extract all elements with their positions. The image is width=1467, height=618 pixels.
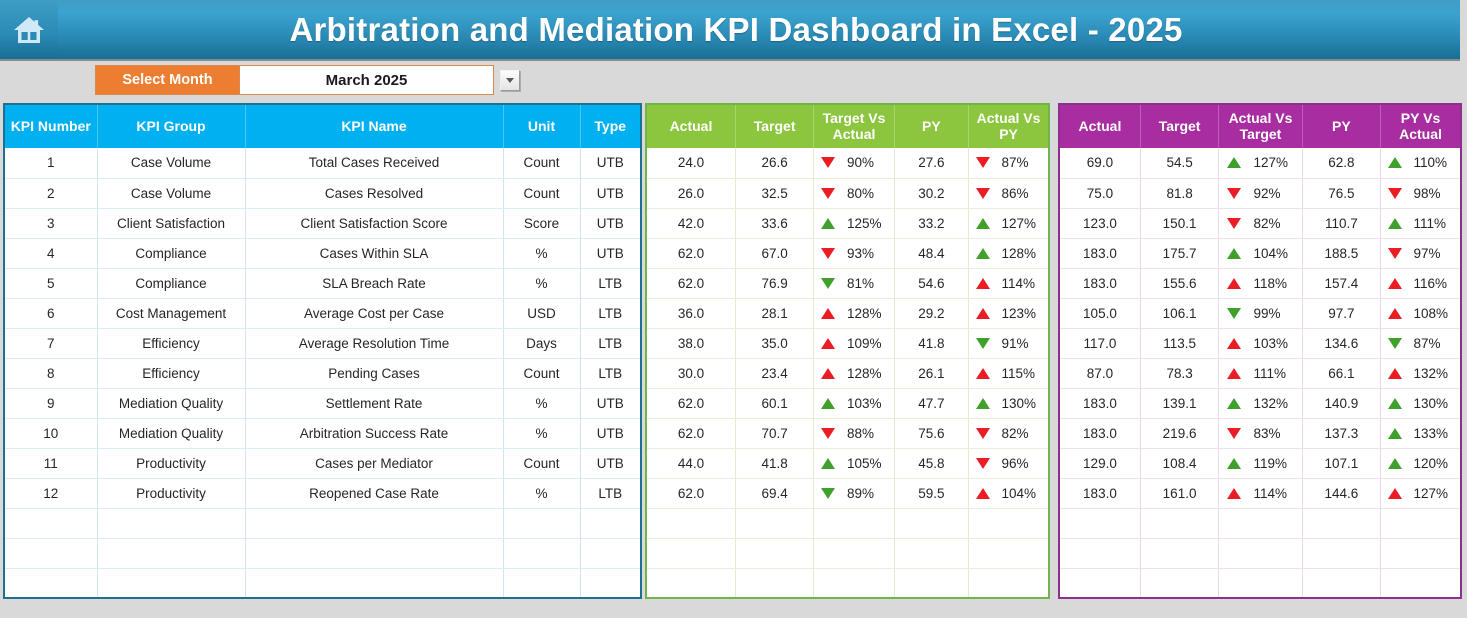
cell-mtd-target: 76.9 [735,268,813,298]
cell-empty [646,568,735,598]
cell-kpi-number: 7 [4,328,97,358]
cell-ytd-py-vs-actual: 132% [1381,358,1461,388]
cell-ytd-py: 144.6 [1302,478,1380,508]
cell-ytd-actual-vs-target: 82% [1219,208,1302,238]
percent-value: 82% [1253,216,1293,231]
cell-unit: Days [503,328,580,358]
cell-mtd-actual: 26.0 [646,178,735,208]
cell-type: LTB [580,358,641,388]
percent-value: 104% [1253,246,1293,261]
trend-down-icon [1388,188,1402,199]
table-row: 69.054.5127%62.8110% [1059,148,1461,178]
cell-mtd-target-vs-actual: 103% [814,388,894,418]
cell-kpi-group: Case Volume [97,148,245,178]
percent-value: 114% [1253,486,1293,501]
cell-mtd-target-vs-actual: 89% [814,478,894,508]
table-row: 38.035.0109%41.891% [646,328,1049,358]
cell-mtd-target: 60.1 [735,388,813,418]
cell-ytd-target: 78.3 [1140,358,1218,388]
cell-kpi-number: 6 [4,298,97,328]
cell-empty [97,538,245,568]
cell-mtd-actual: 36.0 [646,298,735,328]
cell-empty [969,538,1049,568]
mtd-table-header-row: Actual Target Target Vs Actual PY Actual… [646,104,1049,148]
trend-down-icon [821,278,835,289]
percent-value: 127% [1002,216,1042,231]
cell-ytd-actual-vs-target: 132% [1219,388,1302,418]
cell-empty [245,568,503,598]
cell-kpi-group: Efficiency [97,358,245,388]
kpi-table-header-row: KPI Number KPI Group KPI Name Unit Type [4,104,641,148]
cell-kpi-name: Average Cost per Case [245,298,503,328]
cell-kpi-name: Arbitration Success Rate [245,418,503,448]
percent-value: 86% [1002,186,1042,201]
cell-kpi-number: 11 [4,448,97,478]
col-ytd-py: PY [1302,104,1380,148]
trend-up-icon [1388,488,1402,499]
trend-up-icon [1388,157,1402,168]
cell-ytd-actual: 75.0 [1059,178,1140,208]
table-row: 1Case VolumeTotal Cases ReceivedCountUTB [4,148,641,178]
cell-ytd-py: 140.9 [1302,388,1380,418]
cell-mtd-actual-vs-py: 114% [969,268,1049,298]
cell-mtd-actual-vs-py: 128% [969,238,1049,268]
percent-value: 132% [1253,396,1293,411]
trend-up-icon [1388,398,1402,409]
cell-ytd-actual-vs-target: 104% [1219,238,1302,268]
cell-ytd-target: 150.1 [1140,208,1218,238]
cell-ytd-actual: 183.0 [1059,478,1140,508]
cell-type: UTB [580,208,641,238]
table-row [646,568,1049,598]
cell-empty [1302,508,1380,538]
table-row: 117.0113.5103%134.687% [1059,328,1461,358]
percent-value: 120% [1414,456,1454,471]
cell-ytd-target: 113.5 [1140,328,1218,358]
percent-value: 128% [1002,246,1042,261]
trend-down-icon [1388,248,1402,259]
percent-value: 118% [1253,276,1293,291]
cell-kpi-group: Productivity [97,448,245,478]
cell-ytd-target: 155.6 [1140,268,1218,298]
cell-unit: % [503,388,580,418]
cell-kpi-group: Productivity [97,478,245,508]
trend-up-icon [1227,458,1241,469]
cell-type: UTB [580,388,641,418]
trend-up-icon [821,368,835,379]
table-row: 129.0108.4119%107.1120% [1059,448,1461,478]
cell-empty [814,508,894,538]
cell-empty [1140,538,1218,568]
cell-kpi-group: Client Satisfaction [97,208,245,238]
cell-empty [503,538,580,568]
cell-ytd-actual-vs-target: 111% [1219,358,1302,388]
percent-value: 119% [1253,456,1293,471]
cell-ytd-py: 107.1 [1302,448,1380,478]
cell-empty [646,538,735,568]
mtd-table-wrapper: Actual Target Target Vs Actual PY Actual… [645,103,1050,599]
cell-ytd-py: 66.1 [1302,358,1380,388]
cell-mtd-py: 54.6 [894,268,968,298]
trend-down-icon [976,188,990,199]
trend-up-icon [976,278,990,289]
percent-value: 96% [1002,456,1042,471]
cell-kpi-group: Cost Management [97,298,245,328]
ytd-table-wrapper: Actual Target Actual Vs Target PY PY Vs … [1058,103,1462,599]
cell-mtd-target: 23.4 [735,358,813,388]
percent-value: 123% [1002,306,1042,321]
cell-unit: USD [503,298,580,328]
kpi-table-body: 1Case VolumeTotal Cases ReceivedCountUTB… [4,148,641,598]
cell-ytd-py-vs-actual: 87% [1381,328,1461,358]
table-row: 12ProductivityReopened Case Rate%LTB [4,478,641,508]
table-row: 62.076.981%54.6114% [646,268,1049,298]
cell-mtd-actual: 62.0 [646,388,735,418]
cell-mtd-target: 35.0 [735,328,813,358]
table-row [1059,568,1461,598]
cell-mtd-actual-vs-py: 86% [969,178,1049,208]
cell-empty [1302,568,1380,598]
cell-mtd-py: 45.8 [894,448,968,478]
cell-empty [1302,538,1380,568]
cell-mtd-actual: 62.0 [646,238,735,268]
cell-mtd-actual-vs-py: 91% [969,328,1049,358]
cell-mtd-target-vs-actual: 90% [814,148,894,178]
cell-mtd-target-vs-actual: 125% [814,208,894,238]
cell-unit: % [503,478,580,508]
table-row: 24.026.690%27.687% [646,148,1049,178]
home-button[interactable] [0,1,58,58]
percent-value: 98% [1414,186,1454,201]
cell-type: LTB [580,328,641,358]
cell-kpi-name: Total Cases Received [245,148,503,178]
percent-value: 108% [1414,306,1454,321]
cell-ytd-py-vs-actual: 127% [1381,478,1461,508]
table-row [646,508,1049,538]
table-row [646,538,1049,568]
trend-down-icon [1227,188,1241,199]
percent-value: 133% [1414,426,1454,441]
trend-up-icon [1227,488,1241,499]
month-selector[interactable]: Select Month March 2025 [95,65,494,95]
cell-mtd-target: 70.7 [735,418,813,448]
cell-kpi-number: 3 [4,208,97,238]
table-row: 10Mediation QualityArbitration Success R… [4,418,641,448]
cell-empty [4,538,97,568]
cell-mtd-target-vs-actual: 109% [814,328,894,358]
cell-mtd-actual-vs-py: 104% [969,478,1049,508]
cell-empty [580,568,641,598]
page-title: Arbitration and Mediation KPI Dashboard … [58,13,1460,46]
month-dropdown-button[interactable] [500,70,520,91]
cell-mtd-target: 67.0 [735,238,813,268]
cell-ytd-py-vs-actual: 116% [1381,268,1461,298]
cell-kpi-group: Mediation Quality [97,418,245,448]
table-row [4,538,641,568]
cell-kpi-name: Pending Cases [245,358,503,388]
cell-ytd-py-vs-actual: 108% [1381,298,1461,328]
table-row: 62.070.788%75.682% [646,418,1049,448]
cell-empty [1381,508,1461,538]
cell-type: LTB [580,298,641,328]
cell-empty [894,508,968,538]
cell-kpi-name: Cases Resolved [245,178,503,208]
percent-value: 103% [847,396,887,411]
trend-up-icon [976,308,990,319]
cell-mtd-actual: 24.0 [646,148,735,178]
cell-unit: % [503,268,580,298]
cell-ytd-py-vs-actual: 97% [1381,238,1461,268]
cell-empty [1059,508,1140,538]
percent-value: 80% [847,186,887,201]
table-row: 183.0155.6118%157.4116% [1059,268,1461,298]
table-row: 4ComplianceCases Within SLA%UTB [4,238,641,268]
cell-mtd-actual-vs-py: 123% [969,298,1049,328]
cell-unit: Count [503,178,580,208]
selected-month-value[interactable]: March 2025 [239,66,493,94]
percent-value: 87% [1002,155,1042,170]
cell-ytd-py: 188.5 [1302,238,1380,268]
cell-mtd-target: 69.4 [735,478,813,508]
col-kpi-number: KPI Number [4,104,97,148]
percent-value: 90% [847,155,887,170]
cell-mtd-py: 29.2 [894,298,968,328]
cell-empty [735,568,813,598]
percent-value: 92% [1253,186,1293,201]
cell-ytd-target: 139.1 [1140,388,1218,418]
cell-unit: Count [503,148,580,178]
trend-down-icon [976,157,990,168]
cell-ytd-py: 157.4 [1302,268,1380,298]
cell-empty [245,538,503,568]
cell-kpi-number: 5 [4,268,97,298]
cell-ytd-py: 134.6 [1302,328,1380,358]
table-row: 183.0139.1132%140.9130% [1059,388,1461,418]
trend-up-icon [1227,338,1241,349]
cell-ytd-py-vs-actual: 130% [1381,388,1461,418]
cell-ytd-py: 62.8 [1302,148,1380,178]
cell-empty [97,508,245,538]
table-row: 7EfficiencyAverage Resolution TimeDaysLT… [4,328,641,358]
cell-kpi-group: Mediation Quality [97,388,245,418]
cell-ytd-actual: 129.0 [1059,448,1140,478]
cell-empty [503,568,580,598]
col-mtd-actual-vs-py: Actual Vs PY [969,104,1049,148]
cell-empty [580,508,641,538]
col-kpi-name: KPI Name [245,104,503,148]
percent-value: 88% [847,426,887,441]
col-type: Type [580,104,641,148]
cell-empty [1140,568,1218,598]
cell-ytd-actual: 183.0 [1059,268,1140,298]
cell-unit: Count [503,448,580,478]
cell-empty [1219,568,1302,598]
col-mtd-py: PY [894,104,968,148]
trend-up-icon [976,368,990,379]
trend-down-icon [821,488,835,499]
cell-type: UTB [580,178,641,208]
cell-mtd-actual-vs-py: 82% [969,418,1049,448]
cell-mtd-target-vs-actual: 81% [814,268,894,298]
table-row: 2Case VolumeCases ResolvedCountUTB [4,178,641,208]
cell-empty [894,568,968,598]
cell-kpi-number: 10 [4,418,97,448]
trend-down-icon [1227,308,1241,319]
ytd-table-body: 69.054.5127%62.8110%75.081.892%76.598%12… [1059,148,1461,598]
trend-up-icon [1227,278,1241,289]
cell-ytd-actual-vs-target: 119% [1219,448,1302,478]
table-row: 11ProductivityCases per MediatorCountUTB [4,448,641,478]
percent-value: 89% [847,486,887,501]
trend-up-icon [1388,368,1402,379]
table-row: 42.033.6125%33.2127% [646,208,1049,238]
trend-down-icon [976,338,990,349]
col-ytd-py-vs-actual: PY Vs Actual [1381,104,1461,148]
table-row: 105.0106.199%97.7108% [1059,298,1461,328]
cell-mtd-target: 32.5 [735,178,813,208]
col-mtd-actual: Actual [646,104,735,148]
cell-empty [503,508,580,538]
cell-kpi-number: 1 [4,148,97,178]
cell-empty [969,508,1049,538]
cell-empty [1219,508,1302,538]
cell-ytd-actual: 105.0 [1059,298,1140,328]
cell-mtd-actual: 62.0 [646,478,735,508]
cell-ytd-actual-vs-target: 92% [1219,178,1302,208]
cell-ytd-actual: 69.0 [1059,148,1140,178]
percent-value: 128% [847,366,887,381]
cell-empty [735,538,813,568]
cell-empty [1059,568,1140,598]
trend-up-icon [821,218,835,229]
trend-up-icon [976,398,990,409]
percent-value: 87% [1414,336,1454,351]
cell-kpi-name: Settlement Rate [245,388,503,418]
cell-kpi-number: 4 [4,238,97,268]
table-row: 6Cost ManagementAverage Cost per CaseUSD… [4,298,641,328]
mtd-table-body: 24.026.690%27.687%26.032.580%30.286%42.0… [646,148,1049,598]
cell-unit: Score [503,208,580,238]
cell-ytd-actual-vs-target: 83% [1219,418,1302,448]
cell-empty [1059,538,1140,568]
cell-kpi-name: Reopened Case Rate [245,478,503,508]
trend-down-icon [821,428,835,439]
cell-ytd-target: 175.7 [1140,238,1218,268]
select-month-label: Select Month [96,66,239,94]
cell-empty [97,568,245,598]
percent-value: 109% [847,336,887,351]
cell-empty [735,508,813,538]
percent-value: 82% [1002,426,1042,441]
cell-mtd-target-vs-actual: 105% [814,448,894,478]
mtd-table: Actual Target Target Vs Actual PY Actual… [645,103,1050,599]
cell-unit: Count [503,358,580,388]
cell-empty [4,508,97,538]
trend-up-icon [1388,308,1402,319]
percent-value: 128% [847,306,887,321]
cell-mtd-actual: 30.0 [646,358,735,388]
cell-ytd-actual: 117.0 [1059,328,1140,358]
cell-ytd-target: 219.6 [1140,418,1218,448]
cell-empty [969,568,1049,598]
trend-up-icon [1227,157,1241,168]
trend-down-icon [976,458,990,469]
table-row [1059,538,1461,568]
percent-value: 110% [1414,155,1454,170]
cell-kpi-name: Cases Within SLA [245,238,503,268]
cell-mtd-actual: 44.0 [646,448,735,478]
cell-empty [1219,538,1302,568]
cell-kpi-number: 9 [4,388,97,418]
kpi-table-wrapper: KPI Number KPI Group KPI Name Unit Type … [3,103,642,599]
cell-unit: % [503,418,580,448]
chevron-down-icon [506,78,514,83]
cell-ytd-actual-vs-target: 114% [1219,478,1302,508]
col-ytd-target: Target [1140,104,1218,148]
cell-ytd-actual-vs-target: 99% [1219,298,1302,328]
percent-value: 127% [1253,155,1293,170]
cell-mtd-target: 33.6 [735,208,813,238]
cell-kpi-group: Efficiency [97,328,245,358]
cell-mtd-py: 47.7 [894,388,968,418]
col-mtd-target: Target [735,104,813,148]
cell-mtd-py: 30.2 [894,178,968,208]
percent-value: 116% [1414,276,1454,291]
cell-ytd-target: 54.5 [1140,148,1218,178]
percent-value: 97% [1414,246,1454,261]
cell-mtd-target: 41.8 [735,448,813,478]
cell-empty [1381,568,1461,598]
col-ytd-actual: Actual [1059,104,1140,148]
trend-up-icon [821,458,835,469]
percent-value: 111% [1414,216,1454,231]
table-row: 62.069.489%59.5104% [646,478,1049,508]
cell-ytd-target: 81.8 [1140,178,1218,208]
cell-mtd-py: 59.5 [894,478,968,508]
cell-ytd-actual: 183.0 [1059,238,1140,268]
cell-mtd-target: 28.1 [735,298,813,328]
cell-ytd-target: 161.0 [1140,478,1218,508]
cell-mtd-target: 26.6 [735,148,813,178]
cell-ytd-py: 76.5 [1302,178,1380,208]
cell-empty [580,538,641,568]
table-row: 183.0161.0114%144.6127% [1059,478,1461,508]
table-row: 36.028.1128%29.2123% [646,298,1049,328]
trend-up-icon [1388,458,1402,469]
cell-kpi-name: Client Satisfaction Score [245,208,503,238]
cell-mtd-py: 26.1 [894,358,968,388]
cell-ytd-actual: 183.0 [1059,418,1140,448]
table-row: 9Mediation QualitySettlement Rate%UTB [4,388,641,418]
cell-ytd-py-vs-actual: 133% [1381,418,1461,448]
table-row: 183.0219.683%137.3133% [1059,418,1461,448]
trend-up-icon [976,218,990,229]
trend-up-icon [1227,398,1241,409]
cell-ytd-actual-vs-target: 118% [1219,268,1302,298]
percent-value: 103% [1253,336,1293,351]
cell-ytd-target: 108.4 [1140,448,1218,478]
trend-up-icon [1388,278,1402,289]
cell-kpi-name: Cases per Mediator [245,448,503,478]
cell-mtd-target-vs-actual: 88% [814,418,894,448]
cell-mtd-py: 75.6 [894,418,968,448]
cell-empty [1140,508,1218,538]
table-row: 75.081.892%76.598% [1059,178,1461,208]
cell-ytd-py: 110.7 [1302,208,1380,238]
cell-mtd-actual-vs-py: 96% [969,448,1049,478]
cell-kpi-group: Compliance [97,238,245,268]
trend-down-icon [1227,218,1241,229]
